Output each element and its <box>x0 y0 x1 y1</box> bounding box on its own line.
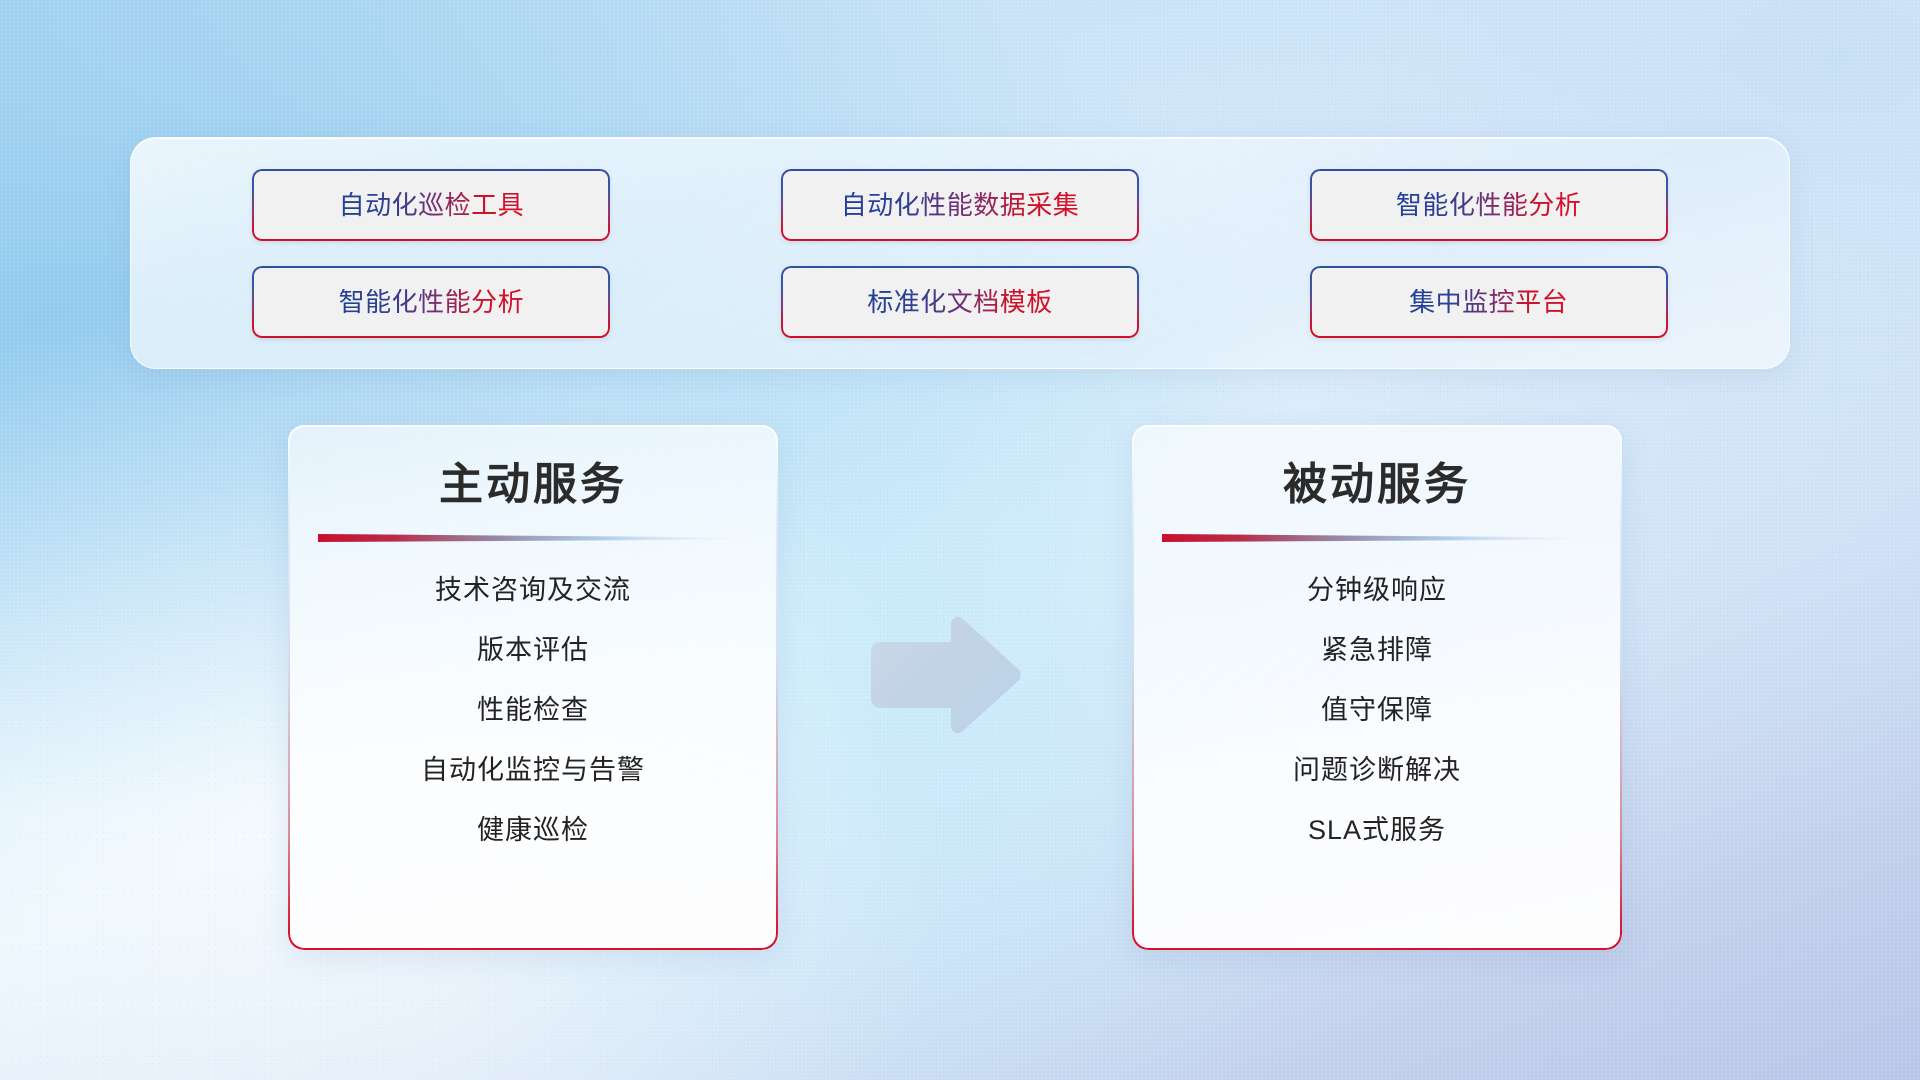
service-item-list: 分钟级响应 紧急排障 值守保障 问题诊断解决 SLA式服务 <box>1162 577 1592 844</box>
service-item: 自动化监控与告警 <box>421 757 645 784</box>
card-divider <box>1162 532 1592 543</box>
capability-pill[interactable]: 集中监控平台 <box>1310 266 1668 338</box>
capability-pill-label: 自动化巡检工具 <box>339 192 525 218</box>
service-item: 版本评估 <box>477 637 589 664</box>
service-item: SLA式服务 <box>1308 817 1446 844</box>
capability-pill-label: 智能化性能分析 <box>339 289 525 315</box>
service-item: 健康巡检 <box>477 817 589 844</box>
capability-pill-label: 智能化性能分析 <box>1396 192 1582 218</box>
service-item: 紧急排障 <box>1321 637 1433 664</box>
service-item: 值守保障 <box>1321 697 1433 724</box>
service-card-active: 主动服务 技术咨询及交流 版本评估 性能检查 <box>288 425 778 950</box>
service-card-passive: 被动服务 分钟级响应 紧急排障 值守保障 <box>1132 425 1622 950</box>
capability-panel: 自动化巡检工具 自动化性能数据采集 智能化性能分析 智能化性能分析 标准化文档模… <box>130 137 1790 369</box>
capability-pill[interactable]: 智能化性能分析 <box>1310 169 1668 241</box>
capability-pill[interactable]: 自动化性能数据采集 <box>781 169 1139 241</box>
card-title: 主动服务 <box>439 459 627 512</box>
service-item: 分钟级响应 <box>1307 577 1447 604</box>
card-title: 被动服务 <box>1283 459 1471 512</box>
capability-pill-label: 标准化文档模板 <box>867 289 1053 315</box>
arrow-right-icon <box>865 615 1025 735</box>
capability-pill[interactable]: 自动化巡检工具 <box>252 169 610 241</box>
capability-pill[interactable]: 智能化性能分析 <box>252 266 610 338</box>
service-item: 问题诊断解决 <box>1293 757 1461 784</box>
service-item: 技术咨询及交流 <box>435 577 631 604</box>
capability-pill-label: 集中监控平台 <box>1409 289 1568 315</box>
slide-canvas: 自动化巡检工具 自动化性能数据采集 智能化性能分析 智能化性能分析 标准化文档模… <box>0 0 1920 1080</box>
capability-pill[interactable]: 标准化文档模板 <box>781 266 1139 338</box>
capability-pill-label: 自动化性能数据采集 <box>841 192 1080 218</box>
service-item: 性能检查 <box>477 697 589 724</box>
card-divider <box>318 532 748 543</box>
service-item-list: 技术咨询及交流 版本评估 性能检查 自动化监控与告警 健康巡检 <box>318 577 748 844</box>
